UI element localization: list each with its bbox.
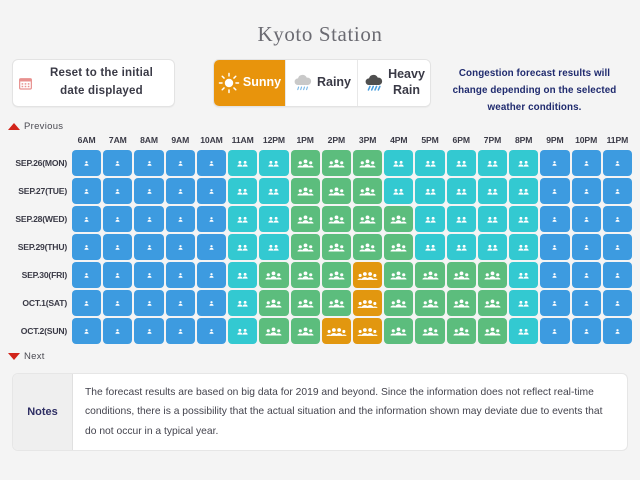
congestion-chip-slightly-crowded[interactable] [509, 290, 538, 316]
congestion-chip-crowded[interactable] [291, 178, 320, 204]
congestion-cell[interactable] [509, 234, 538, 260]
congestion-cell[interactable] [478, 206, 507, 232]
congestion-chip-crowded[interactable] [259, 262, 288, 288]
congestion-cell[interactable] [259, 234, 288, 260]
congestion-chip-crowded[interactable] [384, 318, 413, 344]
congestion-cell[interactable] [478, 178, 507, 204]
congestion-chip-uncrowded[interactable] [197, 234, 226, 260]
next-week-button[interactable]: Next [0, 346, 70, 363]
congestion-chip-slightly-crowded[interactable] [447, 234, 476, 260]
congestion-cell[interactable] [134, 318, 163, 344]
congestion-chip-uncrowded[interactable] [603, 318, 632, 344]
congestion-cell[interactable] [166, 234, 195, 260]
congestion-chip-uncrowded[interactable] [572, 234, 601, 260]
congestion-chip-uncrowded[interactable] [134, 234, 163, 260]
congestion-chip-slightly-crowded[interactable] [259, 178, 288, 204]
congestion-cell[interactable] [572, 262, 601, 288]
reset-date-button[interactable]: Reset to the initial date displayed [12, 59, 175, 107]
congestion-chip-uncrowded[interactable] [197, 290, 226, 316]
grid-day-label: SEP.28(WED) [8, 206, 70, 232]
grid-hour-header: 11PM [603, 135, 632, 148]
congestion-cell[interactable] [134, 234, 163, 260]
congestion-chip-uncrowded[interactable] [166, 234, 195, 260]
congestion-chip-slightly-crowded[interactable] [478, 234, 507, 260]
congestion-chip-crowded[interactable] [291, 206, 320, 232]
congestion-chip-uncrowded[interactable] [197, 150, 226, 176]
grid-hour-header: 4PM [384, 135, 413, 148]
congestion-cell[interactable] [103, 206, 132, 232]
congestion-cell[interactable] [384, 178, 413, 204]
cloud-heavy-rain-icon [363, 72, 385, 94]
congestion-chip-slightly-crowded[interactable] [228, 150, 257, 176]
congestion-chip-uncrowded[interactable] [134, 290, 163, 316]
congestion-cell[interactable] [447, 234, 476, 260]
previous-week-button[interactable]: Previous [0, 116, 70, 133]
congestion-chip-uncrowded[interactable] [603, 206, 632, 232]
grid-day-label: SEP.26(MON) [8, 150, 70, 176]
congestion-chip-uncrowded[interactable] [540, 150, 569, 176]
congestion-chip-slightly-crowded[interactable] [228, 262, 257, 288]
congestion-cell[interactable] [415, 234, 444, 260]
congestion-chip-uncrowded[interactable] [572, 262, 601, 288]
congestion-cell[interactable] [415, 206, 444, 232]
triangle-down-icon [8, 353, 20, 360]
congestion-cell[interactable] [540, 318, 569, 344]
congestion-cell[interactable] [322, 262, 351, 288]
congestion-chip-very-crowded[interactable] [353, 318, 382, 344]
congestion-cell[interactable] [197, 178, 226, 204]
congestion-chip-crowded[interactable] [478, 262, 507, 288]
congestion-cell[interactable] [572, 318, 601, 344]
congestion-chip-uncrowded[interactable] [197, 262, 226, 288]
congestion-cell[interactable] [322, 178, 351, 204]
congestion-cell[interactable] [415, 262, 444, 288]
congestion-chip-crowded[interactable] [415, 262, 444, 288]
congestion-cell[interactable] [228, 234, 257, 260]
calendar-icon [19, 77, 32, 90]
congestion-chip-crowded[interactable] [478, 318, 507, 344]
congestion-cell[interactable] [291, 262, 320, 288]
congestion-chip-crowded[interactable] [353, 206, 382, 232]
congestion-cell[interactable] [228, 178, 257, 204]
congestion-cell[interactable] [415, 290, 444, 316]
congestion-cell[interactable] [447, 178, 476, 204]
grid-hour-header: 8PM [509, 135, 538, 148]
congestion-cell[interactable] [415, 150, 444, 176]
congestion-chip-slightly-crowded[interactable] [259, 150, 288, 176]
grid-hour-header: 8AM [134, 135, 163, 148]
congestion-cell[interactable] [540, 206, 569, 232]
congestion-cell[interactable] [603, 290, 632, 316]
congestion-cell[interactable] [353, 318, 382, 344]
congestion-grid: 6AM7AM8AM9AM10AM11AM12PM1PM2PM3PM4PM5PM6… [6, 133, 634, 346]
congestion-chip-uncrowded[interactable] [103, 150, 132, 176]
congestion-chip-uncrowded[interactable] [72, 318, 101, 344]
congestion-cell[interactable] [103, 178, 132, 204]
notes-panel: Notes The forecast results are based on … [12, 373, 628, 450]
congestion-cell[interactable] [384, 206, 413, 232]
congestion-chip-uncrowded[interactable] [72, 234, 101, 260]
next-week-label: Next [24, 351, 45, 362]
congestion-chip-uncrowded[interactable] [540, 178, 569, 204]
congestion-cell[interactable] [228, 318, 257, 344]
congestion-cell[interactable] [384, 318, 413, 344]
congestion-chip-uncrowded[interactable] [103, 318, 132, 344]
congestion-cell[interactable] [228, 206, 257, 232]
congestion-chip-crowded[interactable] [353, 150, 382, 176]
congestion-cell[interactable] [166, 150, 195, 176]
congestion-cell[interactable] [384, 234, 413, 260]
congestion-cell[interactable] [540, 150, 569, 176]
grid-day-row: SEP.26(MON) [8, 150, 632, 176]
congestion-chip-slightly-crowded[interactable] [509, 262, 538, 288]
congestion-chip-uncrowded[interactable] [134, 178, 163, 204]
congestion-chip-slightly-crowded[interactable] [415, 150, 444, 176]
congestion-cell[interactable] [134, 262, 163, 288]
congestion-cell[interactable] [572, 178, 601, 204]
congestion-chip-slightly-crowded[interactable] [415, 178, 444, 204]
congestion-cell[interactable] [291, 178, 320, 204]
congestion-cell[interactable] [166, 318, 195, 344]
weather-tab-sunny-label: Sunny [243, 75, 281, 91]
grid-day-label: OCT.2(SUN) [8, 318, 70, 344]
congestion-cell[interactable] [478, 290, 507, 316]
congestion-chip-slightly-crowded[interactable] [228, 234, 257, 260]
notes-label: Notes [13, 374, 73, 449]
congestion-chip-slightly-crowded[interactable] [228, 178, 257, 204]
congestion-cell[interactable] [103, 150, 132, 176]
congestion-chip-very-crowded[interactable] [353, 262, 382, 288]
congestion-chip-crowded[interactable] [353, 234, 382, 260]
congestion-cell[interactable] [72, 290, 101, 316]
congestion-cell[interactable] [509, 318, 538, 344]
congestion-chip-slightly-crowded[interactable] [384, 150, 413, 176]
grid-hour-header: 11AM [228, 135, 257, 148]
congestion-cell[interactable] [384, 150, 413, 176]
congestion-chip-slightly-crowded[interactable] [384, 178, 413, 204]
congestion-chip-crowded[interactable] [322, 206, 351, 232]
congestion-chip-uncrowded[interactable] [103, 178, 132, 204]
cloud-rain-icon [292, 72, 314, 94]
congestion-chip-crowded[interactable] [478, 290, 507, 316]
congestion-cell[interactable] [603, 178, 632, 204]
congestion-chip-crowded[interactable] [353, 178, 382, 204]
congestion-chip-slightly-crowded[interactable] [228, 318, 257, 344]
congestion-chip-uncrowded[interactable] [103, 234, 132, 260]
congestion-cell[interactable] [103, 262, 132, 288]
congestion-cell[interactable] [447, 206, 476, 232]
congestion-cell[interactable] [103, 234, 132, 260]
congestion-chip-uncrowded[interactable] [572, 206, 601, 232]
congestion-cell[interactable] [322, 206, 351, 232]
congestion-cell[interactable] [197, 262, 226, 288]
congestion-cell[interactable] [228, 290, 257, 316]
congestion-chip-uncrowded[interactable] [603, 178, 632, 204]
congestion-chip-crowded[interactable] [447, 262, 476, 288]
congestion-cell[interactable] [322, 150, 351, 176]
controls-bar: Reset to the initial date displayed [0, 51, 640, 116]
congestion-chip-crowded[interactable] [322, 178, 351, 204]
congestion-chip-crowded[interactable] [291, 234, 320, 260]
weather-tabs: Sunny Rainy [213, 59, 431, 107]
congestion-chip-uncrowded[interactable] [197, 318, 226, 344]
congestion-chip-uncrowded[interactable] [572, 178, 601, 204]
congestion-cell[interactable] [447, 318, 476, 344]
congestion-chip-uncrowded[interactable] [197, 178, 226, 204]
congestion-chip-crowded[interactable] [322, 234, 351, 260]
congestion-cell[interactable] [447, 290, 476, 316]
congestion-cell[interactable] [103, 318, 132, 344]
congestion-cell[interactable] [259, 178, 288, 204]
congestion-chip-crowded[interactable] [322, 290, 351, 316]
congestion-cell[interactable] [384, 262, 413, 288]
congestion-chip-uncrowded[interactable] [72, 290, 101, 316]
congestion-chip-uncrowded[interactable] [540, 206, 569, 232]
congestion-chip-uncrowded[interactable] [572, 150, 601, 176]
congestion-chip-uncrowded[interactable] [103, 206, 132, 232]
congestion-cell[interactable] [509, 206, 538, 232]
congestion-cell[interactable] [415, 318, 444, 344]
congestion-cell[interactable] [259, 262, 288, 288]
grid-day-label: OCT.1(SAT) [8, 290, 70, 316]
congestion-cell[interactable] [478, 234, 507, 260]
congestion-cell[interactable] [72, 206, 101, 232]
congestion-cell[interactable] [72, 178, 101, 204]
congestion-chip-crowded[interactable] [384, 206, 413, 232]
congestion-cell[interactable] [540, 262, 569, 288]
congestion-cell[interactable] [291, 234, 320, 260]
congestion-cell[interactable] [447, 150, 476, 176]
congestion-cell[interactable] [228, 262, 257, 288]
congestion-chip-slightly-crowded[interactable] [509, 178, 538, 204]
congestion-chip-slightly-crowded[interactable] [447, 206, 476, 232]
congestion-chip-uncrowded[interactable] [603, 234, 632, 260]
congestion-cell[interactable] [291, 206, 320, 232]
congestion-chip-uncrowded[interactable] [166, 206, 195, 232]
congestion-chip-crowded[interactable] [447, 290, 476, 316]
congestion-cell[interactable] [540, 178, 569, 204]
grid-hour-header: 10AM [197, 135, 226, 148]
congestion-cell[interactable] [540, 290, 569, 316]
congestion-cell[interactable] [72, 262, 101, 288]
grid-hour-header: 7AM [103, 135, 132, 148]
weather-tab-rainy-label: Rainy [317, 75, 351, 91]
congestion-chip-crowded[interactable] [291, 290, 320, 316]
congestion-chip-uncrowded[interactable] [540, 290, 569, 316]
congestion-cell[interactable] [353, 234, 382, 260]
congestion-cell[interactable] [322, 290, 351, 316]
congestion-chip-uncrowded[interactable] [166, 262, 195, 288]
congestion-chip-uncrowded[interactable] [72, 150, 101, 176]
congestion-cell[interactable] [259, 318, 288, 344]
congestion-chip-crowded[interactable] [384, 290, 413, 316]
congestion-cell[interactable] [322, 234, 351, 260]
congestion-cell[interactable] [572, 290, 601, 316]
grid-hour-header: 10PM [572, 135, 601, 148]
congestion-chip-uncrowded[interactable] [134, 262, 163, 288]
congestion-cell[interactable] [478, 150, 507, 176]
congestion-cell[interactable] [603, 318, 632, 344]
congestion-cell[interactable] [72, 150, 101, 176]
congestion-chip-uncrowded[interactable] [166, 318, 195, 344]
congestion-chip-uncrowded[interactable] [603, 262, 632, 288]
congestion-cell[interactable] [197, 206, 226, 232]
congestion-chip-crowded[interactable] [291, 150, 320, 176]
grid-header-row: 6AM7AM8AM9AM10AM11AM12PM1PM2PM3PM4PM5PM6… [8, 135, 632, 148]
weather-tab-heavy-rain[interactable]: Heavy Rain [358, 60, 430, 106]
congestion-cell[interactable] [572, 206, 601, 232]
congestion-cell[interactable] [291, 290, 320, 316]
weather-tab-sunny[interactable]: Sunny [214, 60, 286, 106]
congestion-chip-uncrowded[interactable] [603, 150, 632, 176]
congestion-cell[interactable] [166, 206, 195, 232]
congestion-chip-uncrowded[interactable] [72, 206, 101, 232]
congestion-chip-slightly-crowded[interactable] [478, 178, 507, 204]
congestion-chip-crowded[interactable] [415, 318, 444, 344]
congestion-cell[interactable] [259, 290, 288, 316]
congestion-chip-slightly-crowded[interactable] [259, 234, 288, 260]
congestion-cell[interactable] [509, 150, 538, 176]
congestion-chip-uncrowded[interactable] [103, 290, 132, 316]
congestion-cell[interactable] [197, 150, 226, 176]
congestion-chip-uncrowded[interactable] [572, 318, 601, 344]
grid-hour-header: 2PM [322, 135, 351, 148]
congestion-chip-slightly-crowded[interactable] [228, 206, 257, 232]
congestion-chip-uncrowded[interactable] [134, 150, 163, 176]
congestion-cell[interactable] [353, 206, 382, 232]
congestion-chip-uncrowded[interactable] [134, 206, 163, 232]
congestion-chip-slightly-crowded[interactable] [228, 290, 257, 316]
weather-tab-rainy[interactable]: Rainy [286, 60, 358, 106]
congestion-chip-slightly-crowded[interactable] [447, 150, 476, 176]
congestion-cell[interactable] [259, 150, 288, 176]
congestion-cell[interactable] [103, 290, 132, 316]
congestion-cell[interactable] [603, 206, 632, 232]
congestion-cell[interactable] [197, 318, 226, 344]
congestion-chip-slightly-crowded[interactable] [509, 318, 538, 344]
weather-selection-note: Congestion forecast results will change … [441, 59, 628, 116]
congestion-chip-slightly-crowded[interactable] [415, 234, 444, 260]
congestion-cell[interactable] [134, 150, 163, 176]
sun-icon [218, 72, 240, 94]
congestion-cell[interactable] [291, 318, 320, 344]
congestion-cell[interactable] [72, 234, 101, 260]
congestion-cell[interactable] [197, 234, 226, 260]
congestion-cell[interactable] [72, 318, 101, 344]
congestion-cell[interactable] [603, 234, 632, 260]
congestion-chip-very-crowded[interactable] [353, 290, 382, 316]
grid-body: SEP.26(MON)SEP.27(TUE)SEP.28(WED)SEP.29(… [8, 150, 632, 344]
congestion-cell[interactable] [353, 290, 382, 316]
grid-day-row: SEP.27(TUE) [8, 178, 632, 204]
congestion-cell[interactable] [384, 290, 413, 316]
congestion-chip-uncrowded[interactable] [540, 262, 569, 288]
congestion-cell[interactable] [603, 262, 632, 288]
congestion-cell[interactable] [353, 150, 382, 176]
congestion-cell[interactable] [603, 150, 632, 176]
congestion-chip-slightly-crowded[interactable] [447, 178, 476, 204]
congestion-chip-uncrowded[interactable] [540, 318, 569, 344]
congestion-chip-uncrowded[interactable] [572, 290, 601, 316]
congestion-chip-crowded[interactable] [447, 318, 476, 344]
grid-day-row: OCT.2(SUN) [8, 318, 632, 344]
congestion-chip-crowded[interactable] [384, 262, 413, 288]
grid-day-row: OCT.1(SAT) [8, 290, 632, 316]
congestion-cell[interactable] [540, 234, 569, 260]
congestion-chip-uncrowded[interactable] [103, 262, 132, 288]
congestion-chip-slightly-crowded[interactable] [509, 234, 538, 260]
congestion-chip-slightly-crowded[interactable] [415, 206, 444, 232]
congestion-chip-crowded[interactable] [415, 290, 444, 316]
congestion-cell[interactable] [259, 206, 288, 232]
congestion-cell[interactable] [572, 234, 601, 260]
congestion-cell[interactable] [509, 178, 538, 204]
congestion-chip-uncrowded[interactable] [197, 206, 226, 232]
congestion-cell[interactable] [134, 178, 163, 204]
congestion-cell[interactable] [353, 178, 382, 204]
congestion-chip-crowded[interactable] [259, 318, 288, 344]
congestion-chip-slightly-crowded[interactable] [509, 206, 538, 232]
weather-tab-heavy-rain-label: Heavy Rain [388, 67, 425, 98]
congestion-chip-uncrowded[interactable] [72, 178, 101, 204]
congestion-chip-slightly-crowded[interactable] [478, 206, 507, 232]
congestion-chip-uncrowded[interactable] [166, 150, 195, 176]
congestion-cell[interactable] [166, 262, 195, 288]
congestion-chip-uncrowded[interactable] [72, 262, 101, 288]
grid-hour-header: 9PM [540, 135, 569, 148]
congestion-cell[interactable] [134, 206, 163, 232]
congestion-cell[interactable] [322, 318, 351, 344]
congestion-cell[interactable] [166, 290, 195, 316]
congestion-chip-crowded[interactable] [384, 234, 413, 260]
congestion-chip-crowded[interactable] [291, 262, 320, 288]
congestion-chip-slightly-crowded[interactable] [478, 150, 507, 176]
congestion-chip-uncrowded[interactable] [134, 318, 163, 344]
congestion-cell[interactable] [447, 262, 476, 288]
congestion-cell[interactable] [291, 150, 320, 176]
congestion-chip-crowded[interactable] [322, 150, 351, 176]
notes-text: The forecast results are based on big da… [73, 374, 627, 449]
congestion-chip-uncrowded[interactable] [166, 290, 195, 316]
congestion-cell[interactable] [478, 318, 507, 344]
previous-week-label: Previous [24, 121, 63, 132]
congestion-chip-uncrowded[interactable] [166, 178, 195, 204]
congestion-cell[interactable] [572, 150, 601, 176]
congestion-cell[interactable] [197, 290, 226, 316]
congestion-cell[interactable] [478, 262, 507, 288]
grid-hour-header: 1PM [291, 135, 320, 148]
congestion-cell[interactable] [134, 290, 163, 316]
congestion-cell[interactable] [415, 178, 444, 204]
congestion-cell[interactable] [228, 150, 257, 176]
grid-hour-header: 12PM [259, 135, 288, 148]
congestion-cell[interactable] [166, 178, 195, 204]
congestion-chip-slightly-crowded[interactable] [509, 150, 538, 176]
congestion-chip-slightly-crowded[interactable] [259, 206, 288, 232]
grid-hour-header: 9AM [166, 135, 195, 148]
congestion-chip-crowded[interactable] [259, 290, 288, 316]
grid-day-row: SEP.30(FRI) [8, 262, 632, 288]
congestion-cell[interactable] [353, 262, 382, 288]
congestion-chip-uncrowded[interactable] [540, 234, 569, 260]
congestion-cell[interactable] [509, 262, 538, 288]
congestion-cell[interactable] [509, 290, 538, 316]
congestion-chip-very-crowded[interactable] [322, 318, 351, 344]
congestion-chip-crowded[interactable] [291, 318, 320, 344]
congestion-chip-uncrowded[interactable] [603, 290, 632, 316]
grid-hour-header: 3PM [353, 135, 382, 148]
congestion-chip-crowded[interactable] [322, 262, 351, 288]
